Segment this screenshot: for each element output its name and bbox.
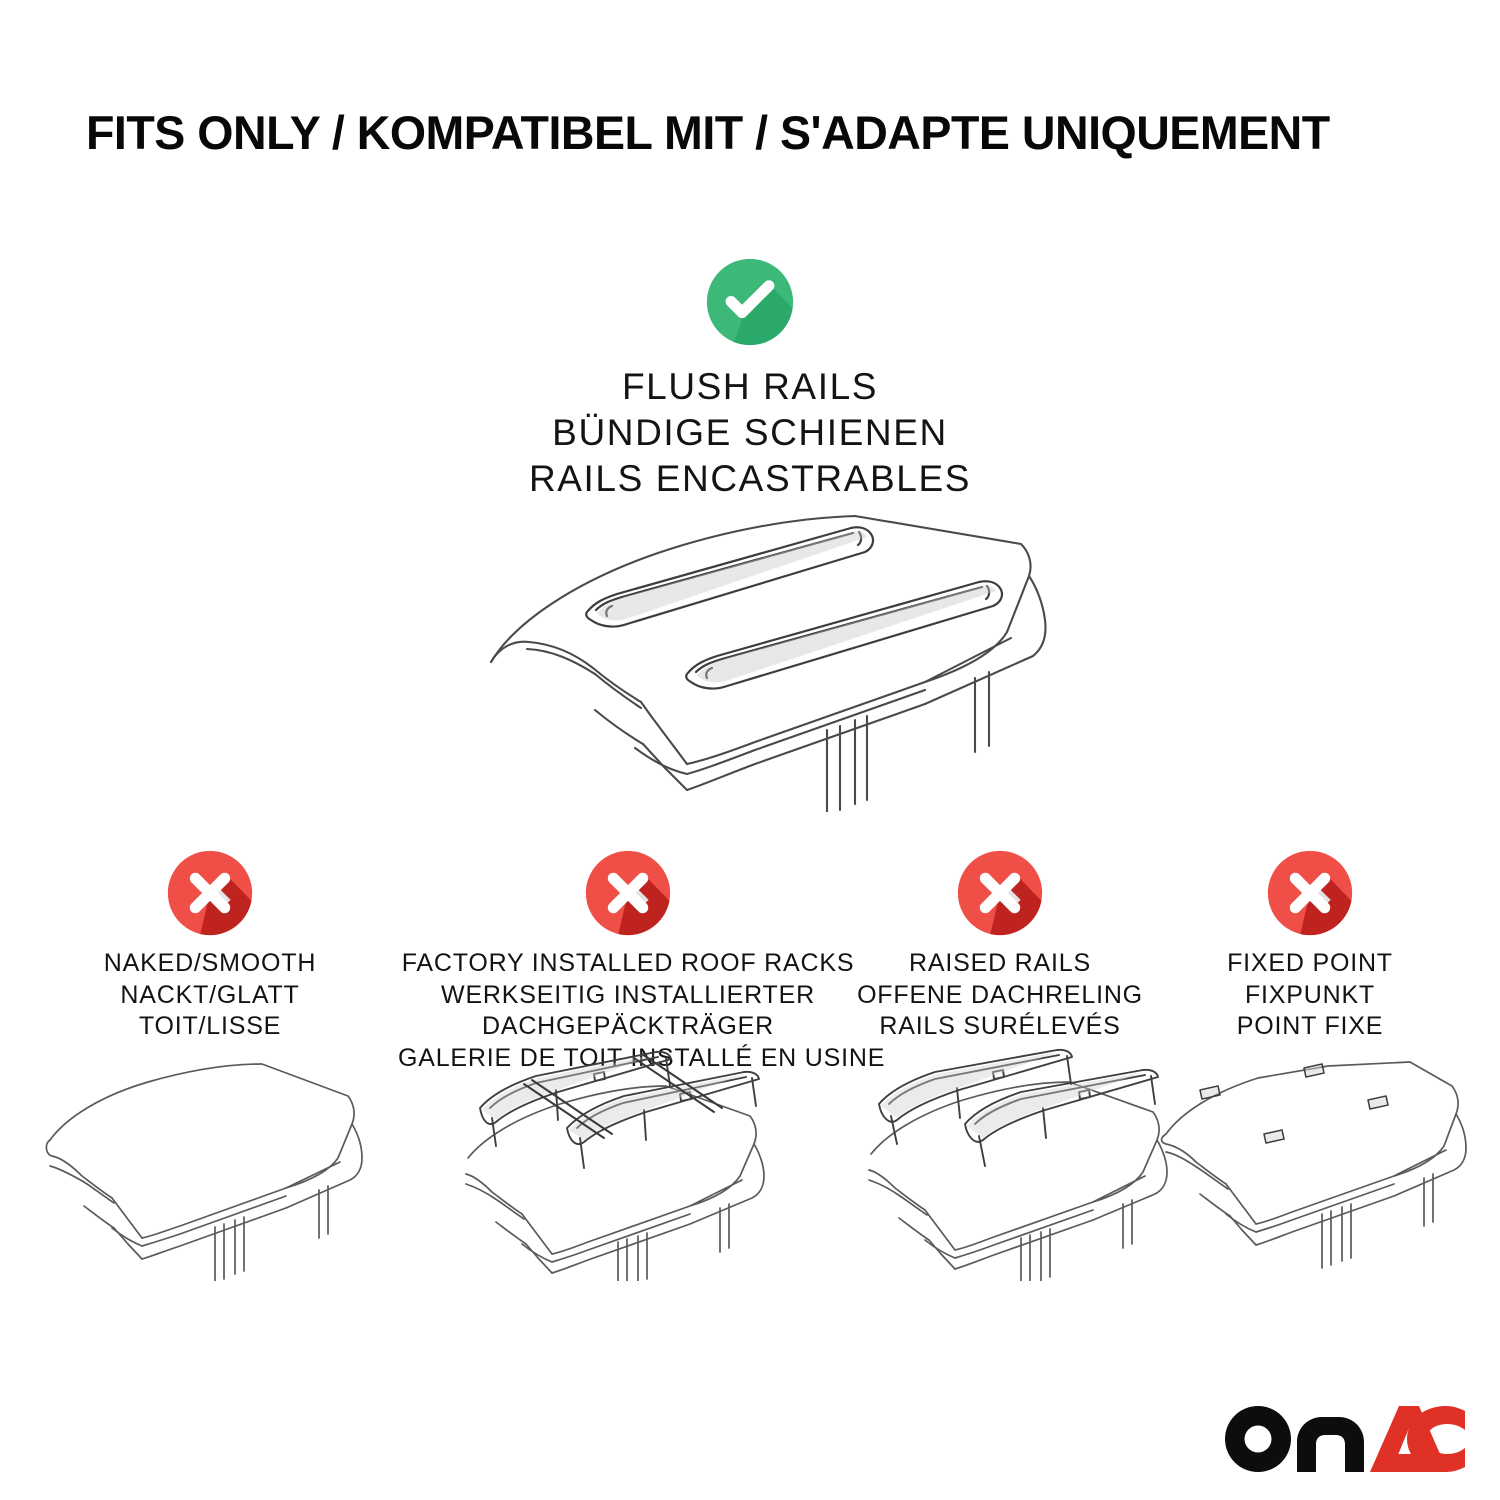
caption-line-de: FIXPUNKT	[1152, 980, 1468, 1012]
incompatible-caption: RAISED RAILS OFFENE DACHRELING RAILS SUR…	[845, 948, 1155, 1043]
incompatible-caption: NAKED/SMOOTH NACKT/GLATT TOIT/LISSE	[10, 948, 410, 1043]
car-roof-flush-rails-drawing	[455, 492, 1075, 812]
car-roof-raised-rails-drawing	[845, 1046, 1155, 1286]
logo-letter-m	[1297, 1417, 1364, 1472]
compatible-line-de: BÜNDIGE SCHIENEN	[0, 410, 1500, 456]
caption-line-de: NACKT/GLATT	[10, 980, 410, 1012]
incompatible-item-fixed-point: FIXED POINT FIXPUNKT POINT FIXE	[1152, 850, 1468, 1043]
caption-line-en: RAISED RAILS	[845, 948, 1155, 980]
caption-line-en: FACTORY INSTALLED ROOF RACKS	[398, 948, 858, 980]
red-x-circle-icon	[1267, 850, 1353, 936]
incompatible-item-raised-rails: RAISED RAILS OFFENE DACHRELING RAILS SUR…	[845, 850, 1155, 1043]
red-x-circle-icon	[585, 850, 671, 936]
caption-line-en: FIXED POINT	[1152, 948, 1468, 980]
caption-line-de-1: WERKSEITIG INSTALLIERTER	[398, 980, 858, 1012]
caption-line-fr: TOIT/LISSE	[10, 1011, 410, 1043]
fitment-compatibility-infographic: FITS ONLY / KOMPATIBEL MIT / S'ADAPTE UN…	[0, 0, 1500, 1500]
incompatible-item-naked-smooth: NAKED/SMOOTH NACKT/GLATT TOIT/LISSE	[10, 850, 410, 1043]
caption-line-de-2: DACHGEPÄCKTRÄGER	[398, 1011, 858, 1043]
logo-letter-o	[1225, 1406, 1291, 1472]
red-x-circle-icon	[957, 850, 1043, 936]
caption-line-fr: POINT FIXE	[1152, 1011, 1468, 1043]
green-check-circle-icon	[706, 258, 794, 346]
compatible-line-en: FLUSH RAILS	[0, 364, 1500, 410]
red-x-circle-icon	[167, 850, 253, 936]
incompatible-columns: NAKED/SMOOTH NACKT/GLATT TOIT/LISSE	[0, 850, 1500, 1330]
caption-line-en: NAKED/SMOOTH	[10, 948, 410, 980]
page-title: FITS ONLY / KOMPATIBEL MIT / S'ADAPTE UN…	[86, 108, 1413, 157]
car-roof-naked-smooth-drawing	[10, 1046, 410, 1286]
caption-line-fr: RAILS SURÉLEVÉS	[845, 1011, 1155, 1043]
incompatible-caption: FIXED POINT FIXPUNKT POINT FIXE	[1152, 948, 1468, 1043]
car-roof-factory-rack-drawing	[398, 1046, 858, 1286]
incompatible-item-factory-rack: FACTORY INSTALLED ROOF RACKS WERKSEITIG …	[398, 850, 858, 1074]
omac-logo	[1225, 1406, 1465, 1472]
caption-line-de: OFFENE DACHRELING	[845, 980, 1155, 1012]
compatible-caption: FLUSH RAILS BÜNDIGE SCHIENEN RAILS ENCAS…	[0, 364, 1500, 502]
compatible-block: FLUSH RAILS BÜNDIGE SCHIENEN RAILS ENCAS…	[0, 258, 1500, 502]
car-roof-fixed-point-drawing	[1152, 1046, 1468, 1286]
